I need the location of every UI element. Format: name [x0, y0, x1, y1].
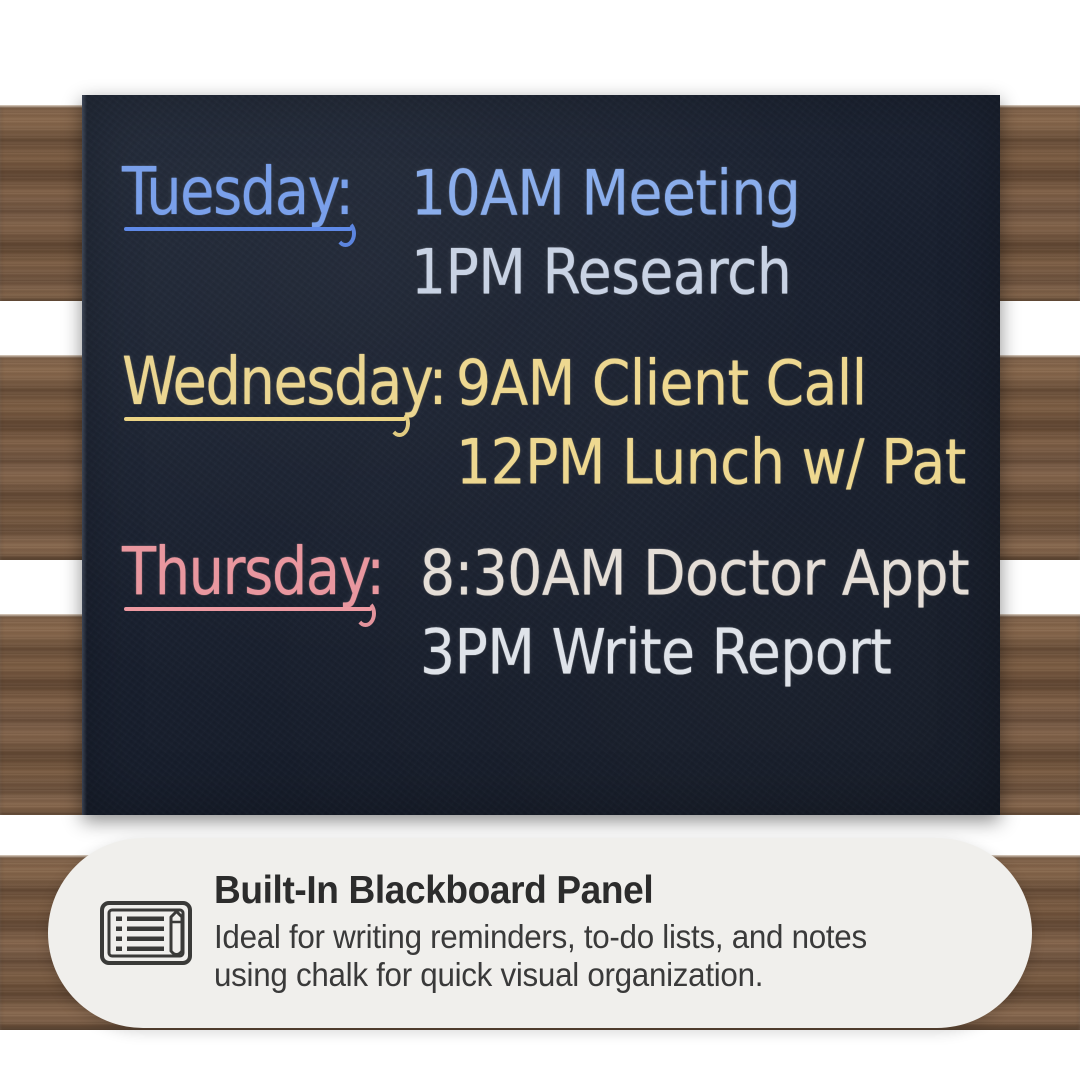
entry-tuesday-1: 10AM Meeting [411, 161, 800, 224]
entry-thursday-1: 8:30AM Doctor Appt [420, 541, 969, 604]
entry-tuesday-2: 1PM Research [411, 240, 791, 303]
caption-description: Ideal for writing reminders, to-do lists… [214, 918, 949, 995]
caption-description-line: using chalk for quick visual organizatio… [214, 956, 949, 995]
product-feature-image: Tuesday: 10AM Meeting 1PM Research Wedne… [0, 0, 1080, 1080]
feature-caption-card: Built-In Blackboard Panel Ideal for writ… [48, 838, 1032, 1028]
day-label-tuesday: Tuesday: [122, 159, 353, 225]
day-underline-thursday [124, 607, 372, 611]
entry-wednesday-2: 12PM Lunch w/ Pat [456, 430, 966, 493]
entry-thursday-2: 3PM Write Report [420, 620, 891, 683]
schedule-day-wednesday: Wednesday: 9AM Client Call 12PM Lunch w/… [122, 355, 966, 493]
entry-wednesday-1: 9AM Client Call [456, 351, 867, 414]
blackboard-list-pencil-icon [94, 881, 198, 985]
schedule-day-tuesday: Tuesday: 10AM Meeting 1PM Research [122, 165, 966, 303]
blackboard-writing-area: Tuesday: 10AM Meeting 1PM Research Wedne… [82, 95, 1000, 815]
caption-description-line: Ideal for writing reminders, to-do lists… [214, 918, 949, 957]
caption-title: Built-In Blackboard Panel [214, 871, 949, 912]
blackboard-panel: Tuesday: 10AM Meeting 1PM Research Wedne… [82, 95, 1000, 815]
day-underline-tuesday [124, 227, 352, 231]
caption-text-block: Built-In Blackboard Panel Ideal for writ… [214, 871, 988, 995]
day-label-wednesday: Wednesday: [122, 349, 446, 415]
day-underline-wednesday [124, 417, 406, 421]
day-label-thursday: Thursday: [122, 539, 384, 605]
schedule-day-thursday: Thursday: 8:30AM Doctor Appt 3PM Write R… [122, 545, 966, 683]
